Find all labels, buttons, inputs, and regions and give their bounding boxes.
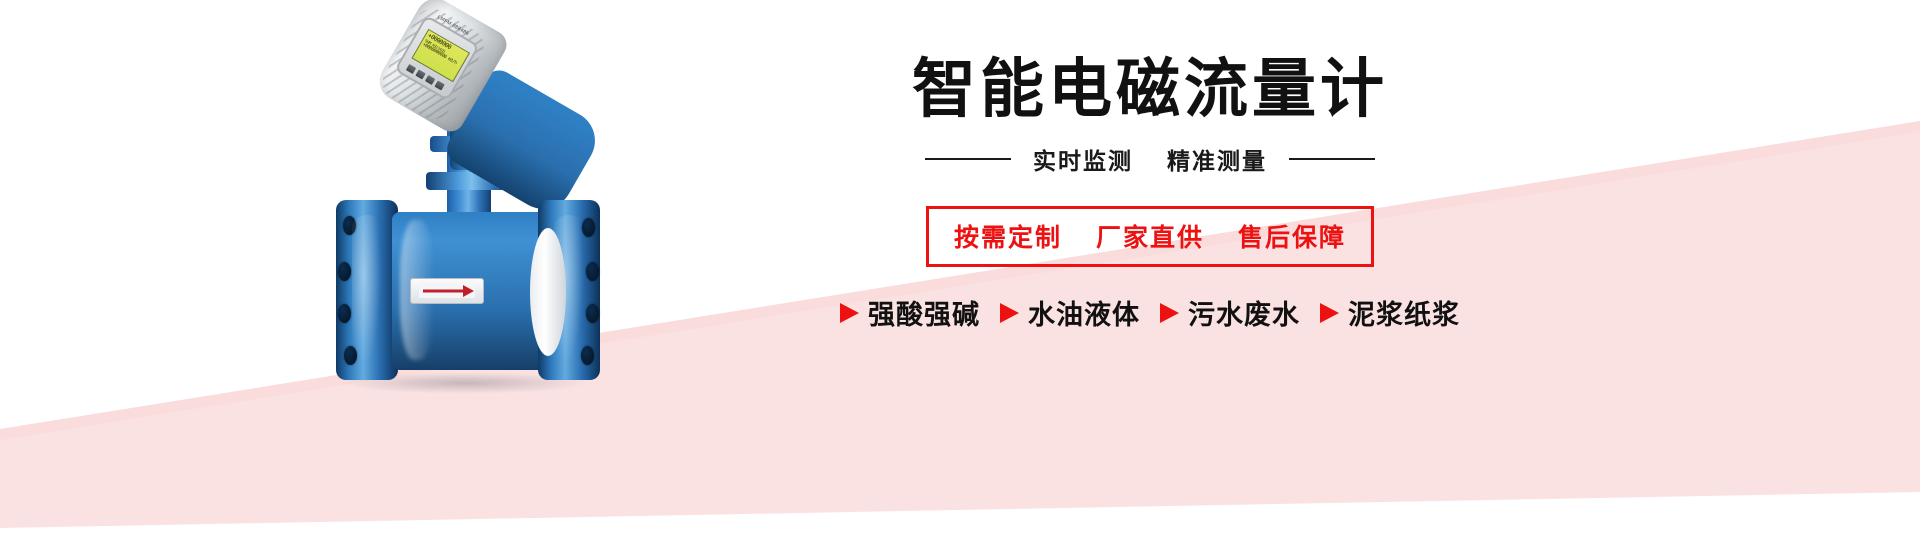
feature-item: 水油液体 [1000,293,1140,332]
flange-left [336,200,398,380]
feature-item: 污水废水 [1160,293,1300,332]
feature-label: 污水废水 [1188,293,1300,332]
banner-text-block: 智能电磁流量计 实时监测 精准测量 按需定制 厂家直供 售后保障 强酸强碱 水油… [780,52,1520,332]
feature-label: 强酸强碱 [868,293,980,332]
flange-bolt [338,262,351,281]
flow-direction-arrow [419,284,475,298]
keypad-button-2[interactable] [415,69,425,79]
feature-item: 强酸强碱 [840,293,980,332]
subtitle-word-2: 精准测量 [1167,142,1267,176]
flange-bolt [582,218,595,237]
flow-direction-plate [410,278,484,304]
rule-left [925,158,1011,160]
flange-bolt [586,304,599,323]
flowmeter-illustration: LMFM 888486 +0000000 SUM m3(std) +000000… [300,0,660,430]
arrow-right-icon [1000,303,1019,323]
page-title: 智能电磁流量计 [780,52,1520,126]
keypad-button-4[interactable] [434,80,444,90]
keypad-button-1[interactable] [406,64,416,74]
product-banner: LMFM 888486 +0000000 SUM m3(std) +000000… [0,0,1920,550]
guarantee-item-1: 按需定制 [954,218,1062,254]
feature-label: 泥浆纸浆 [1348,293,1460,332]
feature-item: 泥浆纸浆 [1320,293,1460,332]
subtitle-words: 实时监测 精准测量 [1033,142,1267,176]
feature-label: 水油液体 [1028,293,1140,332]
flange-bolt [586,262,599,281]
arrow-right-icon [1320,303,1339,323]
guarantee-item-2: 厂家直供 [1096,218,1204,254]
flange-bolt [344,346,357,365]
flange-bolt [343,216,356,235]
flange-bolt [338,304,351,323]
arrow-right-icon [840,303,859,323]
rule-right [1289,158,1375,160]
subtitle-row: 实时监测 精准测量 [780,142,1520,176]
guarantee-item-3: 售后保障 [1238,218,1346,254]
liner-disc [530,228,566,356]
arrow-right-icon [1160,303,1179,323]
flange-bolt [581,346,594,365]
keypad-button-3[interactable] [425,75,435,85]
feature-list: 强酸强碱 水油液体 污水废水 泥浆纸浆 [780,293,1520,332]
subtitle-word-1: 实时监测 [1033,142,1133,176]
guarantee-box: 按需定制 厂家直供 售后保障 [926,206,1374,267]
